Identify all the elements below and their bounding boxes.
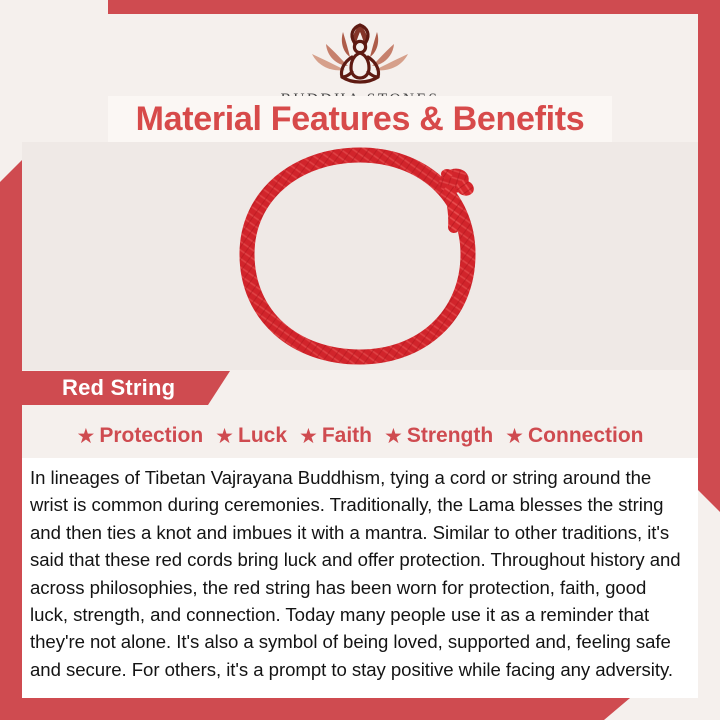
ribbon-label: Red String <box>62 375 175 401</box>
red-string-bracelet-image <box>225 142 495 370</box>
description-panel: In lineages of Tibetan Vajrayana Buddhis… <box>22 458 698 698</box>
benefit-label: Connection <box>528 424 644 448</box>
product-image-area <box>22 142 698 370</box>
star-icon: ★ <box>384 426 403 447</box>
benefit-strength: ★ Strength <box>380 424 497 448</box>
infographic-page: BUDDHA STONES Material Features & Benefi… <box>0 0 720 720</box>
description-text: In lineages of Tibetan Vajrayana Buddhis… <box>30 464 686 683</box>
frame-top-bar <box>108 0 720 14</box>
red-string-ribbon: Red String <box>0 371 230 405</box>
star-icon: ★ <box>215 426 234 447</box>
lotus-meditation-icon <box>296 16 424 90</box>
page-title-band: Material Features & Benefits <box>108 96 612 142</box>
page-title: Material Features & Benefits <box>136 100 585 139</box>
benefit-label: Strength <box>407 424 493 448</box>
frame-left-bar <box>0 160 22 705</box>
benefit-faith: ★ Faith <box>295 424 376 448</box>
star-icon: ★ <box>299 426 318 447</box>
benefit-protection: ★ Protection <box>73 424 208 448</box>
star-icon: ★ <box>505 426 524 447</box>
benefit-luck: ★ Luck <box>211 424 291 448</box>
star-icon: ★ <box>77 426 96 447</box>
benefits-row: ★ Protection ★ Luck ★ Faith ★ Strength ★… <box>22 418 698 454</box>
benefit-label: Faith <box>322 424 372 448</box>
benefit-connection: ★ Connection <box>501 424 647 448</box>
benefit-label: Protection <box>99 424 203 448</box>
frame-bottom-bar <box>0 698 630 720</box>
benefit-label: Luck <box>238 424 287 448</box>
